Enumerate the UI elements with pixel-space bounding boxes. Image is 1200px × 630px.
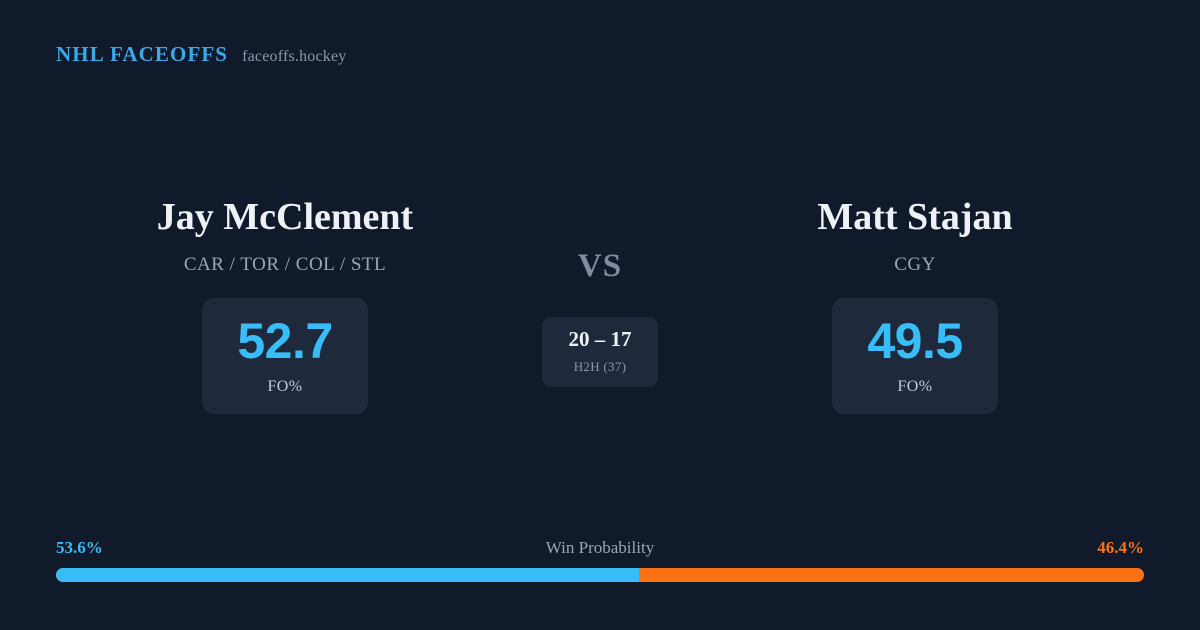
player-card-right: Matt Stajan CGY 49.5 FO% xyxy=(685,196,1145,414)
stat-value-left: 52.7 xyxy=(237,316,332,366)
win-probability-left-value: 53.6% xyxy=(56,538,103,558)
win-probability-labels: 53.6% Win Probability 46.4% xyxy=(56,538,1144,558)
stat-label-left: FO% xyxy=(268,378,303,396)
player-name-left: Jay McClement xyxy=(157,196,413,240)
matchup-section: Jay McClement CAR / TOR / COL / STL 52.7… xyxy=(0,196,1200,414)
win-probability-section: 53.6% Win Probability 46.4% xyxy=(56,538,1144,582)
site-header: NHL FACEOFFS faceoffs.hockey xyxy=(56,44,347,65)
versus-column: VS 20 – 17 H2H (37) xyxy=(515,196,685,387)
win-probability-bar-fill-left xyxy=(56,568,639,582)
win-probability-bar xyxy=(56,568,1144,582)
win-probability-right-value: 46.4% xyxy=(1097,538,1144,558)
win-probability-title: Win Probability xyxy=(546,538,654,558)
brand-logo-text: NHL FACEOFFS xyxy=(56,44,228,65)
versus-label: VS xyxy=(578,250,622,283)
matchup-page: NHL FACEOFFS faceoffs.hockey Jay McCleme… xyxy=(0,0,1200,630)
stat-card-right: 49.5 FO% xyxy=(832,298,998,414)
player-teams-right: CGY xyxy=(894,254,936,276)
stat-value-right: 49.5 xyxy=(867,316,962,366)
player-name-right: Matt Stajan xyxy=(817,196,1012,240)
head-to-head-box: 20 – 17 H2H (37) xyxy=(542,317,658,387)
stat-card-left: 52.7 FO% xyxy=(202,298,368,414)
head-to-head-label: H2H (37) xyxy=(574,359,627,375)
player-card-left: Jay McClement CAR / TOR / COL / STL 52.7… xyxy=(55,196,515,414)
head-to-head-record: 20 – 17 xyxy=(569,329,632,350)
stat-label-right: FO% xyxy=(898,378,933,396)
brand-domain-text: faceoffs.hockey xyxy=(242,49,346,65)
player-teams-left: CAR / TOR / COL / STL xyxy=(184,254,386,276)
